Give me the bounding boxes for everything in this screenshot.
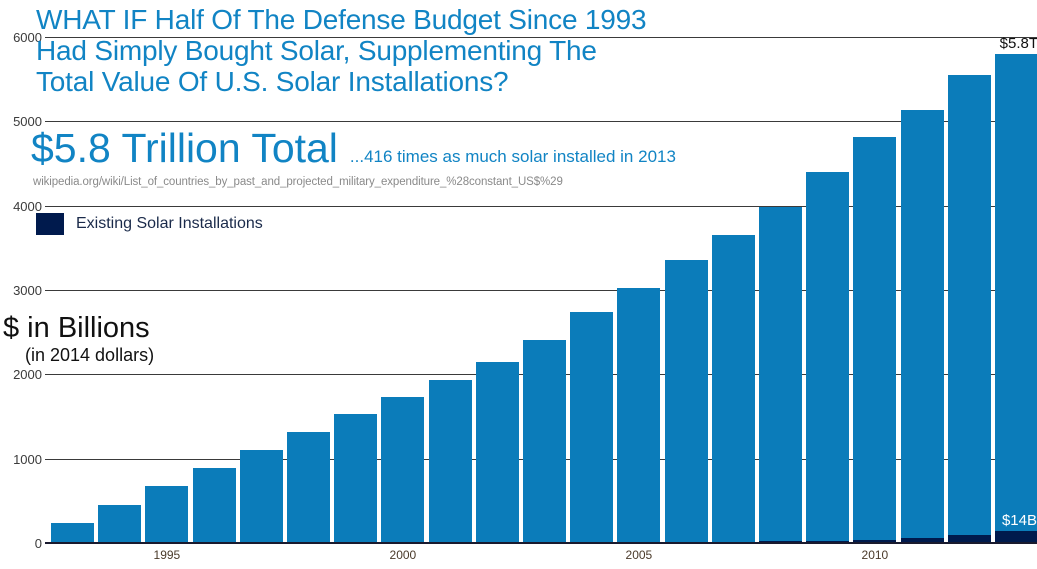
headline-line-1: WHAT IF Half Of The Defense Budget Since… <box>36 4 646 35</box>
bar-segment-defense-2005 <box>617 288 660 543</box>
bar-segment-defense-1994 <box>98 505 141 543</box>
bar-segment-defense-2006 <box>665 260 708 543</box>
bar-2005[interactable] <box>617 288 660 543</box>
x-tick-2010: 2010 <box>862 548 889 562</box>
x-axis-line <box>45 542 1037 544</box>
legend-swatch-existing-solar <box>36 213 64 235</box>
y-tick-2000: 2000 <box>0 367 42 382</box>
annotation-solar-label: $14B <box>1002 512 1037 529</box>
y-tick-1000: 1000 <box>0 452 42 467</box>
bar-1993[interactable] <box>51 523 94 543</box>
bar-segment-defense-2011 <box>901 110 944 543</box>
chart-canvas: 0100020003000400050006000 $5.8T$14B WHAT… <box>0 0 1037 569</box>
bar-segment-defense-1995 <box>145 486 188 543</box>
y-tick-4000: 4000 <box>0 199 42 214</box>
bar-segment-defense-2002 <box>476 362 519 543</box>
bar-1995[interactable] <box>145 486 188 543</box>
bar-2004[interactable] <box>570 312 613 543</box>
bar-segment-defense-2009 <box>806 172 849 543</box>
bar-2008[interactable] <box>759 207 802 543</box>
x-tick-2000: 2000 <box>390 548 417 562</box>
bar-2000[interactable] <box>381 397 424 543</box>
bar-segment-defense-2007 <box>712 235 755 543</box>
bar-segment-defense-1999 <box>334 414 377 543</box>
bar-1999[interactable] <box>334 414 377 543</box>
big-stat-note: ...416 times as much solar installed in … <box>350 147 676 166</box>
bar-segment-defense-2012 <box>948 75 991 543</box>
bar-segment-defense-2003 <box>523 340 566 543</box>
bar-2006[interactable] <box>665 260 708 543</box>
bar-segment-defense-1996 <box>193 468 236 543</box>
bar-segment-defense-1997 <box>240 450 283 543</box>
y-tick-3000: 3000 <box>0 283 42 298</box>
bar-1998[interactable] <box>287 432 330 543</box>
bar-2002[interactable] <box>476 362 519 543</box>
headline-line-3: Total Value Of U.S. Solar Installations? <box>36 66 646 97</box>
headline: WHAT IF Half Of The Defense Budget Since… <box>36 4 646 97</box>
x-tick-1995: 1995 <box>154 548 181 562</box>
y-tick-0: 0 <box>0 536 42 551</box>
bar-1996[interactable] <box>193 468 236 543</box>
legend: Existing Solar Installations <box>36 213 263 235</box>
bar-1997[interactable] <box>240 450 283 543</box>
bar-2003[interactable] <box>523 340 566 543</box>
bar-segment-defense-2008 <box>759 207 802 543</box>
bar-2013[interactable]: $5.8T$14B <box>995 54 1037 543</box>
big-stat: $5.8 Trillion Total...416 times as much … <box>31 128 676 177</box>
headline-line-2: Had Simply Bought Solar, Supplementing T… <box>36 35 646 66</box>
bar-2009[interactable] <box>806 172 849 543</box>
bar-segment-defense-2013 <box>995 54 1037 543</box>
big-stat-value: $5.8 Trillion Total <box>31 125 338 171</box>
bar-2012[interactable] <box>948 75 991 543</box>
bar-segment-defense-2001 <box>429 380 472 543</box>
bar-2011[interactable] <box>901 110 944 543</box>
bar-segment-defense-2004 <box>570 312 613 543</box>
bar-2001[interactable] <box>429 380 472 543</box>
y-axis-subtitle: (in 2014 dollars) <box>25 346 154 365</box>
bar-segment-defense-2010 <box>853 137 896 543</box>
bar-segment-defense-1993 <box>51 523 94 543</box>
bar-segment-defense-2000 <box>381 397 424 543</box>
legend-label-existing-solar: Existing Solar Installations <box>76 215 263 233</box>
bar-1994[interactable] <box>98 505 141 543</box>
x-tick-2005: 2005 <box>626 548 653 562</box>
annotation-total-label: $5.8T <box>1000 35 1037 52</box>
bar-2010[interactable] <box>853 137 896 543</box>
y-axis-title: $ in Billions <box>3 313 150 343</box>
bar-2007[interactable] <box>712 235 755 543</box>
source-url: wikipedia.org/wiki/List_of_countries_by_… <box>33 176 563 188</box>
bar-segment-defense-1998 <box>287 432 330 543</box>
